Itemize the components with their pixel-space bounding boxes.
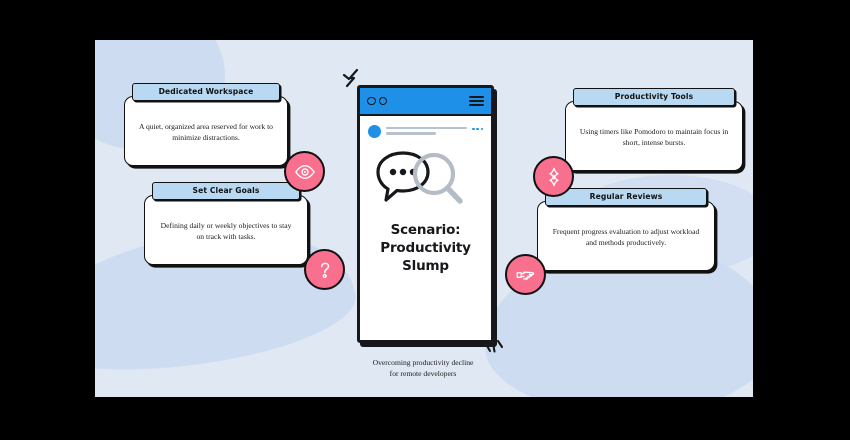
info-card-dedicated-workspace[interactable]: Dedicated Workspace A quiet, organized a… xyxy=(124,83,288,166)
card-body-set-clear-goals: Defining daily or weekly objectives to s… xyxy=(144,195,308,265)
pointing-hand-icon xyxy=(505,254,546,295)
circle-dot-icon xyxy=(367,97,376,106)
phone-mockup[interactable]: Scenario: Productivity Slump xyxy=(357,85,494,343)
device-screen xyxy=(360,116,491,221)
device-title-line-1: Scenario: xyxy=(360,222,491,240)
question-mark-icon xyxy=(304,249,345,290)
device-title: Scenario: Productivity Slump xyxy=(360,222,491,275)
device-title-line-2: Productivity xyxy=(360,240,491,258)
more-options-icon[interactable] xyxy=(472,125,483,130)
infographic-canvas: Dedicated Workspace A quiet, organized a… xyxy=(95,40,753,397)
star-burst-icon xyxy=(533,156,574,197)
info-card-productivity-tools[interactable]: Productivity Tools Using timers like Pom… xyxy=(565,88,743,171)
caption: Overcoming productivity decline for remo… xyxy=(327,358,519,379)
info-card-regular-reviews[interactable]: Regular Reviews Frequent progress evalua… xyxy=(537,188,715,271)
device-title-line-3: Slump xyxy=(360,258,491,276)
post-line xyxy=(386,127,467,129)
card-body-dedicated-workspace: A quiet, organized area reserved for wor… xyxy=(124,96,288,166)
screenshot-stage: Dedicated Workspace A quiet, organized a… xyxy=(0,0,850,440)
hamburger-menu-icon[interactable] xyxy=(469,96,484,107)
post-header xyxy=(368,125,483,138)
caption-line-1: Overcoming productivity decline xyxy=(327,358,519,369)
card-title-dedicated-workspace: Dedicated Workspace xyxy=(132,83,280,101)
caption-line-2: for remote developers xyxy=(327,369,519,380)
avatar xyxy=(368,125,381,138)
card-body-productivity-tools: Using timers like Pomodoro to maintain f… xyxy=(565,101,743,171)
post-text-lines xyxy=(386,125,467,138)
circle-dot-icon xyxy=(379,97,388,106)
card-title-productivity-tools: Productivity Tools xyxy=(573,88,735,106)
card-title-set-clear-goals: Set Clear Goals xyxy=(152,182,300,200)
device-topbar xyxy=(360,88,491,116)
card-body-regular-reviews: Frequent progress evaluation to adjust w… xyxy=(537,201,715,271)
card-title-regular-reviews: Regular Reviews xyxy=(545,188,707,206)
info-card-set-clear-goals[interactable]: Set Clear Goals Defining daily or weekly… xyxy=(144,182,308,265)
post-line xyxy=(386,132,436,134)
device-topbar-dots xyxy=(367,97,387,106)
eye-icon xyxy=(284,151,325,192)
search-conversation-illustration xyxy=(368,144,483,216)
